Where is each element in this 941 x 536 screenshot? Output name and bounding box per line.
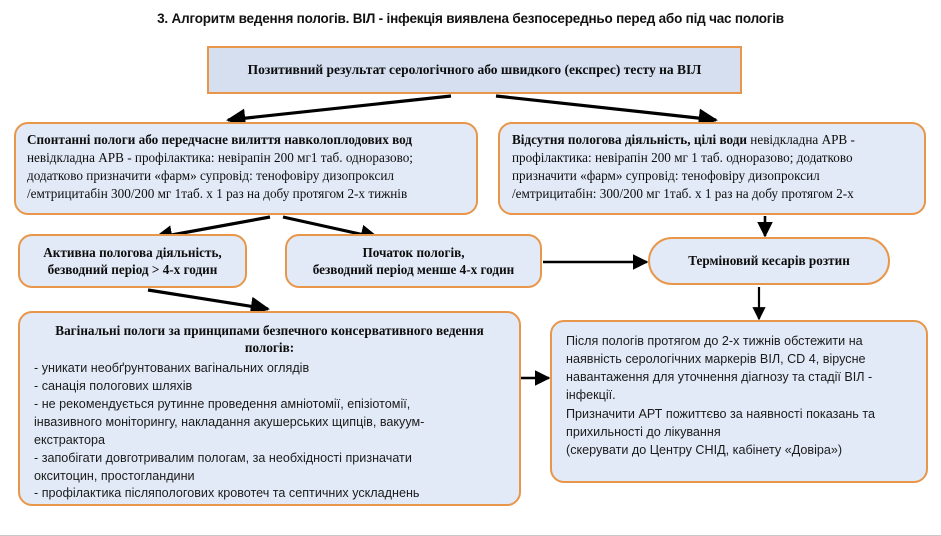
node-labour-start-line-1: Початок пологів, [313,244,515,261]
node-no-labour-activity-line-2: профілактика: невірапін 200 мг 1 таб. од… [512,149,913,167]
node-postpartum-followup-line-6: прихильності до лікування [566,423,914,441]
node-active-labour-line-1: Активна пологова діяльність, [43,244,221,261]
list-item: - не рекомендується рутинне проведення а… [34,396,505,414]
node-no-labour-activity-line-1: невідкладна АРВ - [750,132,855,147]
node-postpartum-followup-line-2: наявність серологічних маркерів ВІЛ, CD … [566,350,914,368]
node-labour-start[interactable]: Початок пологів, безводний період менше … [285,234,542,288]
list-item: - санація пологових шляхів [34,378,505,396]
node-labour-start-text: Початок пологів, безводний період менше … [313,244,515,278]
node-active-labour[interactable]: Активна пологова діяльність, безводний п… [18,234,247,288]
node-no-labour-activity-line-3: призначити «фарм» супровід: тенофовіру д… [512,167,913,185]
node-top-result-label: Позитивний результат серологічного або ш… [240,62,710,78]
node-spontaneous-labour[interactable]: Спонтанні пологи або передчасне вилиття … [14,122,478,215]
node-postpartum-followup-line-7: (скерувати до Центру СНІД, кабінету «Дов… [566,441,914,459]
node-spontaneous-labour-line-1: невідкладна АРВ - профілактика: невірапі… [27,149,466,167]
node-spontaneous-labour-line-2: додатково призначити «фарм» супровід: те… [27,167,466,185]
list-item: - профілактика післяпологових кровотеч т… [34,485,505,503]
flowchart-canvas: 3. Алгоритм ведення пологів. ВІЛ - інфек… [0,0,941,536]
node-no-labour-activity-row: Відсутня пологова діяльність, цілі води … [512,131,913,149]
node-no-labour-activity-line-4: /емтрицитабін: 300/200 мг 1таб. х 1 раз … [512,185,913,203]
node-urgent-cesarean-label: Терміновий кесарів розтин [688,252,850,269]
edge-top-to-no-labour [496,96,716,120]
node-vaginal-delivery-list: - уникати необґрунтованих вагінальних ог… [34,360,505,503]
node-urgent-cesarean[interactable]: Терміновий кесарів розтин [648,237,890,285]
node-postpartum-followup-line-5: Призначити АРТ пожиттєво за наявності по… [566,405,914,423]
node-postpartum-followup-line-1: Після пологів протягом до 2-х тижнів обс… [566,332,914,350]
node-top-result[interactable]: Позитивний результат серологічного або ш… [207,46,742,94]
node-spontaneous-labour-heading: Спонтанні пологи або передчасне вилиття … [27,131,466,149]
edge-active-to-vaginal [148,290,268,309]
list-item: - уникати необґрунтованих вагінальних ог… [34,360,505,378]
node-vaginal-delivery[interactable]: Вагінальні пологи за принципами безпечно… [18,311,521,506]
node-spontaneous-labour-line-3: /емтрицитабін 300/200 мг 1таб. х 1 раз н… [27,185,466,203]
node-vaginal-delivery-heading: Вагінальні пологи за принципами безпечно… [34,322,505,356]
node-labour-start-line-2: безводний період менше 4-х годин [313,261,515,278]
list-item: - запобігати довготривалим пологам, за н… [34,450,505,468]
node-postpartum-followup[interactable]: Після пологів протягом до 2-х тижнів обс… [550,320,928,483]
page-title: 3. Алгоритм ведення пологів. ВІЛ - інфек… [0,11,941,26]
list-item: окситоцин, простогландини [34,468,505,486]
node-no-labour-activity-heading: Відсутня пологова діяльність, цілі води [512,132,747,147]
list-item: екстрактора [34,432,505,450]
list-item: інвазивного моніторингу, накладання акуш… [34,414,505,432]
node-postpartum-followup-line-3: навантаження для уточнення діагнозу та с… [566,368,914,386]
node-active-labour-line-2: безводний період > 4-х годин [43,261,221,278]
node-postpartum-followup-line-4: інфекції. [566,386,914,404]
node-no-labour-activity[interactable]: Відсутня пологова діяльність, цілі води … [498,122,926,215]
node-active-labour-text: Активна пологова діяльність, безводний п… [43,244,221,278]
edge-top-to-spontaneous [228,96,451,120]
